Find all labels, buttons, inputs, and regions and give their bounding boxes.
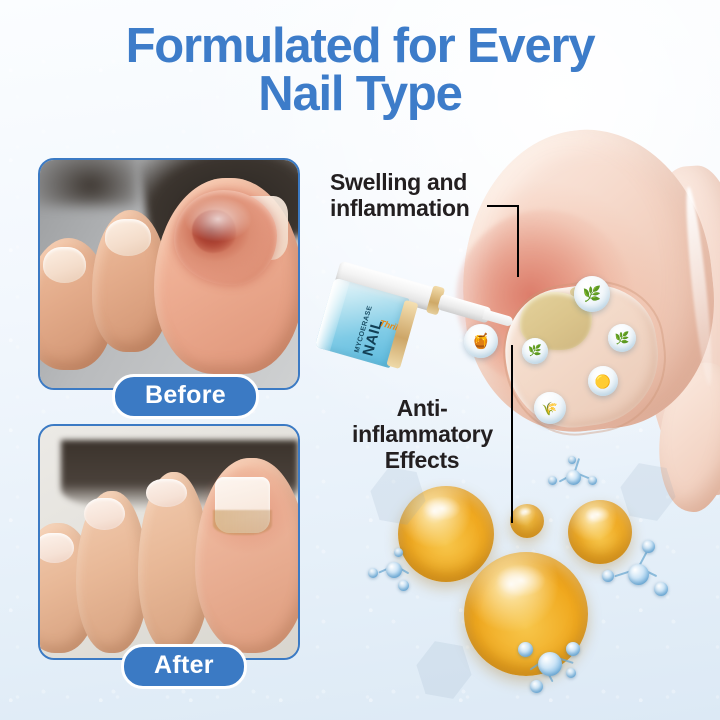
ingredient-bubble-amber-resin[interactable]: 🟡 <box>588 366 618 396</box>
molecule-left <box>364 546 422 596</box>
ingredient-bubble-herb-sprig[interactable]: 🌿 <box>522 338 548 364</box>
title-line-2: Nail Type <box>0 70 720 118</box>
molecule-top <box>546 458 600 498</box>
leader-line-anti-inflammatory <box>511 345 513 523</box>
after-photo <box>40 426 298 658</box>
nail-third <box>146 479 187 507</box>
callout-anti-line-2: inflammatory <box>352 422 492 448</box>
before-badge: Before <box>112 374 259 419</box>
molecule-right <box>598 540 672 602</box>
photo-shadow-secondary <box>40 160 138 206</box>
hexagon-outline-bottom <box>412 638 477 703</box>
honeycomb-icon: 🍯 <box>472 334 491 349</box>
amber-resin-icon: 🟡 <box>595 375 611 388</box>
hexagon-outline-right <box>616 460 681 525</box>
before-photo <box>40 160 298 388</box>
nail-edge <box>213 510 272 536</box>
ingredient-bubble-aloe-leaf[interactable]: 🌿 <box>574 276 610 312</box>
hexagon-outline-left <box>366 464 431 529</box>
before-photo-card[interactable] <box>38 158 300 390</box>
oil-droplet-small <box>510 504 544 538</box>
aloe-leaf-icon: 🌿 <box>583 287 602 302</box>
callout-swelling-inflammation: Swelling and inflammation <box>330 170 510 222</box>
molecule-bottom <box>508 620 586 696</box>
photo-highlight <box>184 196 251 242</box>
callout-swelling-line-1: Swelling and <box>330 170 510 196</box>
nail-pinky <box>40 533 74 563</box>
after-photo-card[interactable] <box>38 424 300 660</box>
green-herb-icon: 🌿 <box>615 332 630 344</box>
clove-icon: 🌾 <box>542 402 558 415</box>
leader-line-swelling-vertical <box>517 205 519 277</box>
advertisement-canvas: Formulated for Every Nail Type Before <box>0 0 720 720</box>
after-badge: After <box>121 644 247 689</box>
ingredient-bubble-honeycomb[interactable]: 🍯 <box>464 324 498 358</box>
oil-droplet-cluster <box>370 462 720 720</box>
callout-swelling-line-2: inflammation <box>330 196 510 222</box>
page-title: Formulated for Every Nail Type <box>0 22 720 118</box>
callout-anti-line-3: Effects <box>352 448 492 474</box>
nail-second <box>105 219 151 255</box>
callout-anti-line-1: Anti- <box>352 396 492 422</box>
ingredient-bubble-green-herb[interactable]: 🌿 <box>608 324 636 352</box>
title-line-1: Formulated for Every <box>126 19 595 73</box>
ingredient-bubble-clove[interactable]: 🌾 <box>534 392 566 424</box>
nail-small <box>43 247 87 283</box>
callout-anti-inflammatory: Anti- inflammatory Effects <box>352 396 492 473</box>
herb-sprig-icon: 🌿 <box>528 346 542 357</box>
